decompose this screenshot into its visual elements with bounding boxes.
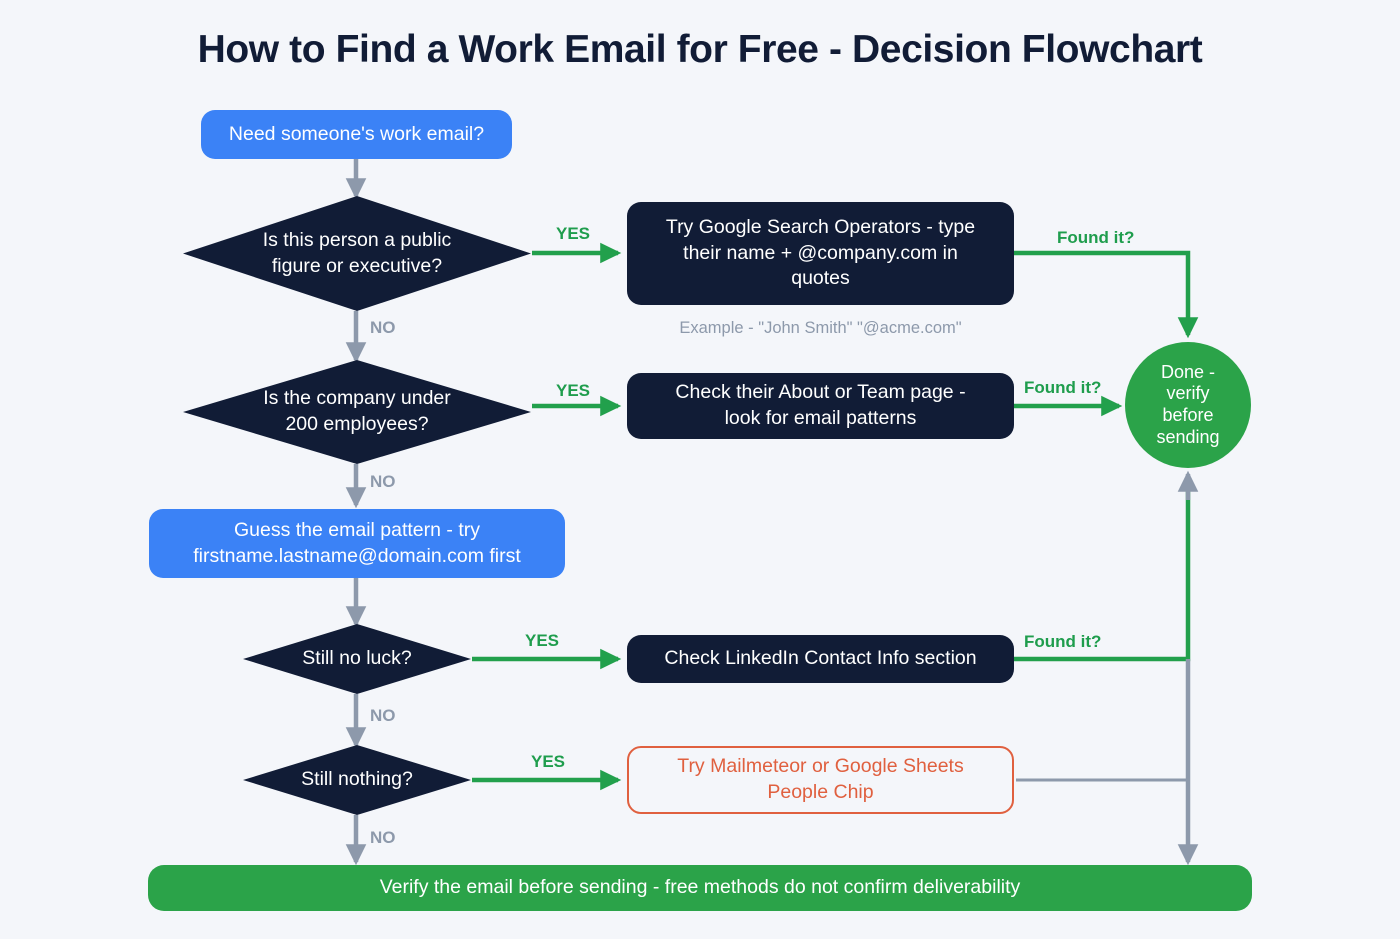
node-done-label-line2: verify	[1156, 383, 1219, 405]
node-q3-label: Still no luck?	[302, 646, 411, 672]
node-start-label: Need someone's work email?	[229, 122, 484, 148]
node-a4-label-line2: People Chip	[677, 780, 963, 806]
node-a1-label-line2: their name + @company.com in	[666, 241, 975, 267]
edge-label-found-1: Found it?	[1057, 228, 1134, 248]
node-q1-label-line1: Is this person a public	[263, 228, 452, 254]
node-q1-label-line2: figure or executive?	[263, 254, 452, 280]
node-a4-label-line1: Try Mailmeteor or Google Sheets	[677, 754, 963, 780]
edge-label-no-4: NO	[370, 828, 396, 848]
node-q2-label-line1: Is the company under	[263, 386, 451, 412]
flowchart-canvas: How to Find a Work Email for Free - Deci…	[0, 0, 1400, 939]
node-guess-email-pattern[interactable]: Guess the email pattern - try firstname.…	[149, 509, 565, 578]
edge-label-no-3: NO	[370, 706, 396, 726]
node-q3-still-no-luck[interactable]: Still no luck?	[243, 624, 471, 694]
node-q4-still-nothing[interactable]: Still nothing?	[243, 745, 471, 815]
edge-label-found-2: Found it?	[1024, 378, 1101, 398]
node-verify-label: Verify the email before sending - free m…	[380, 875, 1021, 901]
node-q1-public-figure[interactable]: Is this person a public figure or execut…	[183, 196, 531, 311]
node-guess-label-line2: firstname.lastname@domain.com first	[193, 544, 521, 570]
node-done-label-line4: sending	[1156, 427, 1219, 449]
node-a1-example-caption: Example - "John Smith" "@acme.com"	[627, 319, 1014, 338]
node-a3-linkedin-contact-info[interactable]: Check LinkedIn Contact Info section	[627, 635, 1014, 683]
edge-label-no-1: NO	[370, 318, 396, 338]
node-q4-label: Still nothing?	[301, 767, 413, 793]
node-q2-company-size[interactable]: Is the company under 200 employees?	[183, 360, 531, 464]
edge-label-yes-3: YES	[525, 631, 559, 651]
edge-label-yes-4: YES	[531, 752, 565, 772]
node-done-verify-before-sending[interactable]: Done - verify before sending	[1125, 342, 1251, 468]
node-guess-label-line1: Guess the email pattern - try	[193, 518, 521, 544]
node-q2-label-line2: 200 employees?	[263, 412, 451, 438]
node-a2-label-line2: look for email patterns	[675, 406, 965, 432]
edge-label-yes-2: YES	[556, 381, 590, 401]
node-done-label-line1: Done -	[1156, 362, 1219, 384]
node-a1-label-line3: quotes	[666, 266, 975, 292]
node-a1-label-line1: Try Google Search Operators - type	[666, 215, 975, 241]
node-a2-label-line1: Check their About or Team page -	[675, 380, 965, 406]
node-start[interactable]: Need someone's work email?	[201, 110, 512, 159]
edge-a1-to-done	[1014, 253, 1188, 335]
node-a2-about-team-page[interactable]: Check their About or Team page - look fo…	[627, 373, 1014, 439]
page-title: How to Find a Work Email for Free - Deci…	[0, 28, 1400, 72]
edge-label-yes-1: YES	[556, 224, 590, 244]
edge-label-found-3: Found it?	[1024, 632, 1101, 652]
node-a1-google-search-operators[interactable]: Try Google Search Operators - type their…	[627, 202, 1014, 305]
node-verify-email-before-sending[interactable]: Verify the email before sending - free m…	[148, 865, 1252, 911]
node-a4-mailmeteor-people-chip[interactable]: Try Mailmeteor or Google Sheets People C…	[627, 746, 1014, 814]
edge-label-no-2: NO	[370, 472, 396, 492]
node-done-label-line3: before	[1156, 405, 1219, 427]
node-a3-label: Check LinkedIn Contact Info section	[664, 646, 976, 672]
